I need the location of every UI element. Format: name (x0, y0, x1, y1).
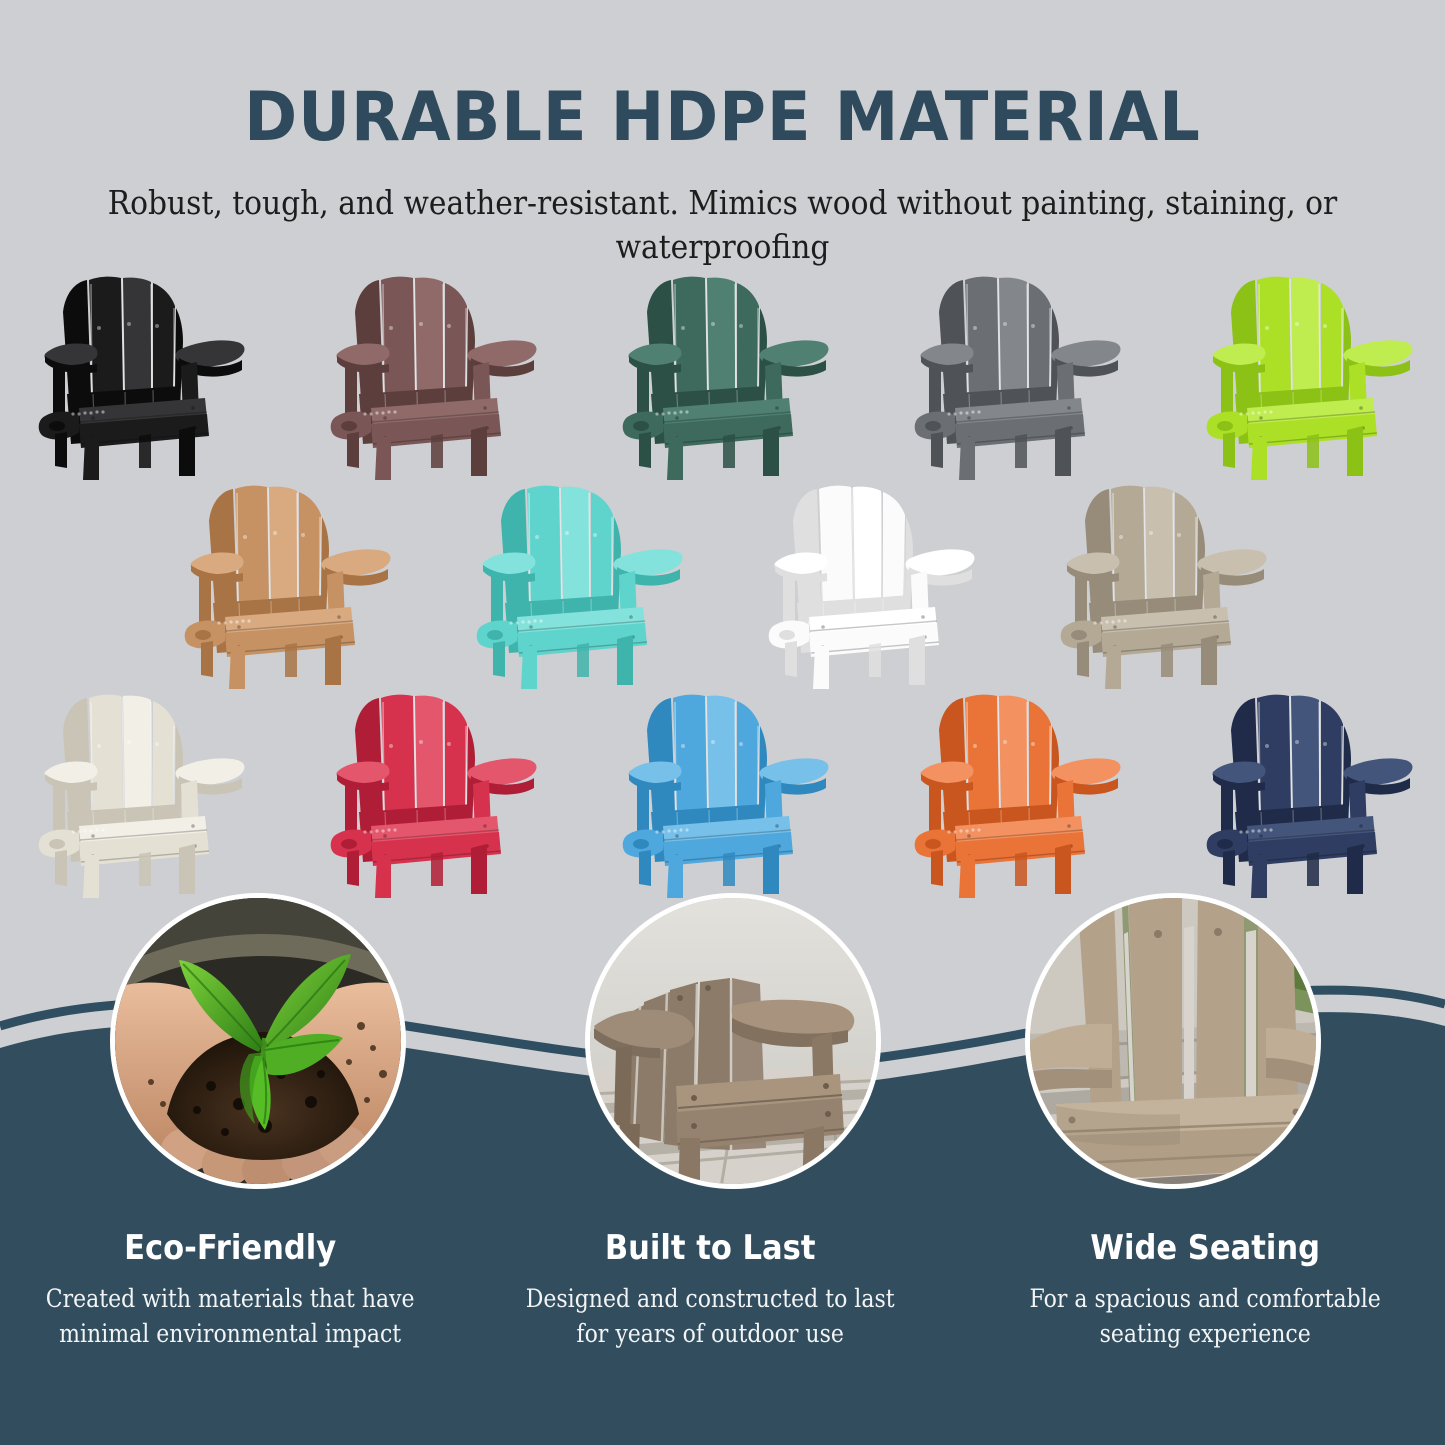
chair-row-1 (0, 268, 1445, 483)
chair-swatch-brown[interactable] (321, 268, 541, 483)
chair-swatch-ivory[interactable] (29, 686, 249, 901)
chair-illustration (905, 268, 1125, 483)
feature-wide-seating: Wide Seating For a spacious and comforta… (965, 1228, 1445, 1351)
feature-built-to-last: Built to Last Designed and constructed t… (470, 1228, 950, 1351)
chair-illustration (1051, 477, 1271, 692)
chair-swatch-weathered-wood[interactable] (1051, 477, 1271, 692)
chair-illustration (1197, 268, 1417, 483)
feature-list: Eco-Friendly Created with materials that… (0, 1228, 1445, 1351)
chair-swatch-black[interactable] (29, 268, 249, 483)
chair-illustration (759, 477, 979, 692)
chair-illustration (613, 686, 833, 901)
chair-illustration (321, 686, 541, 901)
chair-swatch-lime-green[interactable] (1197, 268, 1417, 483)
feature-photo-wide-seating (1025, 893, 1321, 1189)
chair-swatch-teak[interactable] (175, 477, 395, 692)
feature-photo-eco-friendly (110, 893, 406, 1189)
chair-illustration (613, 268, 833, 483)
chair-row-3 (0, 686, 1445, 901)
chair-row-2 (0, 477, 1445, 692)
chair-illustration (467, 477, 687, 692)
chair-swatch-gray[interactable] (905, 268, 1125, 483)
chair-swatch-dark-green[interactable] (613, 268, 833, 483)
patio-chair-photo (590, 898, 876, 1184)
feature-title: Wide Seating (1005, 1228, 1405, 1268)
feature-photos (0, 893, 1445, 1203)
chair-illustration (905, 686, 1125, 901)
header: DURABLE HDPE MATERIAL Robust, tough, and… (0, 0, 1445, 268)
chair-swatch-turquoise[interactable] (467, 477, 687, 692)
feature-photo-built-to-last (585, 893, 881, 1189)
feature-description: Designed and constructed to last for yea… (515, 1282, 906, 1351)
feature-eco-friendly: Eco-Friendly Created with materials that… (0, 1228, 470, 1351)
chair-illustration (321, 268, 541, 483)
chair-swatch-orange[interactable] (905, 686, 1125, 901)
chair-swatch-blue[interactable] (613, 686, 833, 901)
hands-seedling-icon (115, 898, 401, 1184)
feature-description: For a spacious and comfortable seating e… (1009, 1282, 1400, 1351)
feature-title: Eco-Friendly (30, 1228, 430, 1268)
chair-swatch-navy-blue[interactable] (1197, 686, 1417, 901)
feature-description: Created with materials that have minimal… (35, 1282, 426, 1351)
chair-illustration (29, 686, 249, 901)
feature-title: Built to Last (511, 1228, 911, 1268)
chair-swatch-red[interactable] (321, 686, 541, 901)
chair-illustration (29, 268, 249, 483)
page-subtitle: Robust, tough, and weather-resistant. Mi… (72, 181, 1373, 268)
chair-illustration (1197, 686, 1417, 901)
chair-illustration (175, 477, 395, 692)
chair-swatch-white[interactable] (759, 477, 979, 692)
page-title: DURABLE HDPE MATERIAL (43, 78, 1401, 157)
chair-color-grid (0, 268, 1445, 901)
wide-seat-photo (1030, 898, 1316, 1184)
